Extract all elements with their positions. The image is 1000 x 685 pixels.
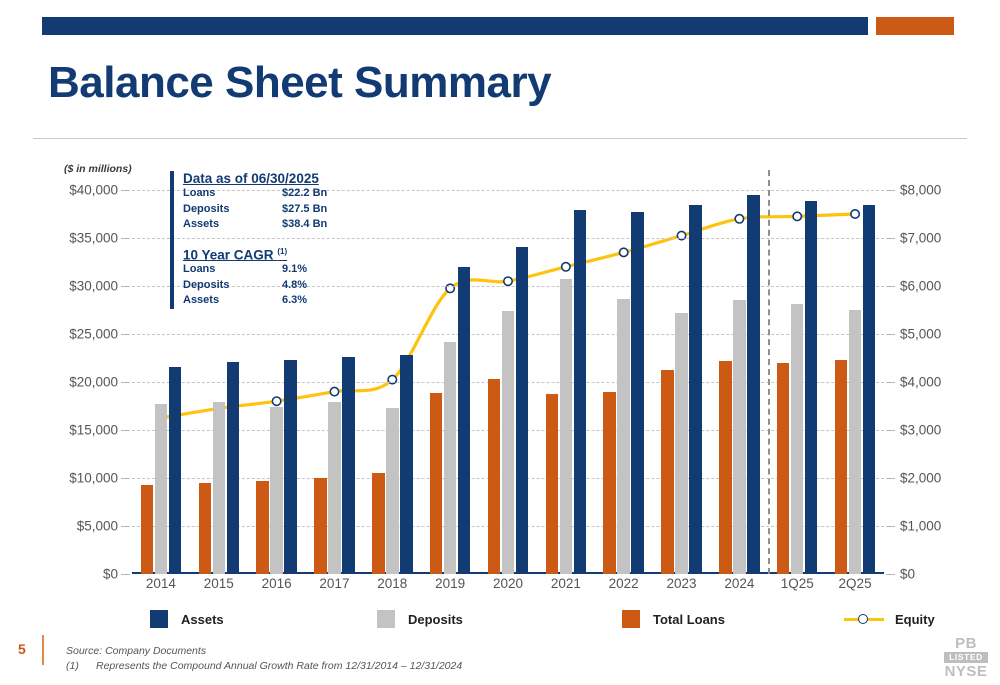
callout-data-value: $38.4 Bn (282, 217, 337, 233)
y-tick-mark (121, 430, 130, 431)
callout-data-value: $27.5 Bn (282, 202, 337, 218)
y-tick-mark-right (886, 190, 895, 191)
y-tick-mark (121, 526, 130, 527)
bar-deposits (328, 402, 341, 574)
bar-group (603, 190, 644, 574)
logo-exchange: NYSE (944, 664, 988, 679)
legend-swatch (377, 610, 395, 628)
callout-data-rows: Loans$22.2 BnDeposits$27.5 BnAssets$38.4… (183, 186, 343, 233)
y-axis-right-tick: $1,000 (900, 519, 941, 534)
legend-item-equity[interactable]: Equity (844, 610, 935, 628)
x-axis-label: 2023 (652, 576, 712, 591)
bar-group (430, 190, 471, 574)
y-tick-mark-right (886, 430, 895, 431)
page-number: 5 (18, 641, 26, 657)
bar-group (835, 190, 876, 574)
bar-group (719, 190, 760, 574)
callout-data-label: Deposits (183, 202, 229, 218)
callout-data-title: Data as of 06/30/2025 (183, 171, 343, 186)
y-axis-left-tick: $0 (103, 567, 118, 582)
bar-group (372, 190, 413, 574)
bar-deposits (617, 299, 630, 574)
bar-assets (863, 205, 876, 574)
y-axis-right-tick: $3,000 (900, 423, 941, 438)
bar-loans (372, 473, 385, 574)
x-axis-label: 2017 (304, 576, 364, 591)
bar-loans (777, 363, 790, 574)
bar-group (488, 190, 529, 574)
legend-label: Equity (895, 612, 935, 627)
y-axis-right-tick: $7,000 (900, 231, 941, 246)
legend-item-deposits[interactable]: Deposits (377, 610, 463, 628)
bar-assets (227, 362, 240, 574)
y-axis-right-tick: $2,000 (900, 471, 941, 486)
bar-group (777, 190, 818, 574)
y-tick-mark-right (886, 286, 895, 287)
x-axis-label: 2021 (536, 576, 596, 591)
footnotes: Source: Company Documents (1) Represents… (66, 644, 462, 674)
y-tick-mark (121, 286, 130, 287)
bar-deposits (791, 304, 804, 574)
chart-legend: AssetsDepositsTotal LoansEquity (132, 610, 892, 634)
x-axis-label: 2015 (189, 576, 249, 591)
y-axis-right-tick: $6,000 (900, 279, 941, 294)
bar-group (546, 190, 587, 574)
legend-label: Total Loans (653, 612, 725, 627)
callout-cagr-label: Deposits (183, 278, 229, 294)
bar-deposits (270, 407, 283, 574)
x-axis-label: 2022 (594, 576, 654, 591)
callout-cagr-row: Deposits4.8% (183, 278, 343, 294)
bar-loans (141, 485, 154, 574)
x-axis-label: 2020 (478, 576, 538, 591)
callout-cagr-title: 10 Year CAGR (1) (183, 247, 343, 263)
logo-listed: LISTED (944, 652, 988, 663)
y-axis-right-tick: $5,000 (900, 327, 941, 342)
callout-data-row: Loans$22.2 Bn (183, 186, 343, 202)
bar-deposits (733, 300, 746, 574)
bar-deposits (444, 342, 457, 574)
callout-cagr-label: Loans (183, 262, 215, 278)
data-callout-box: Data as of 06/30/2025 Loans$22.2 BnDepos… (170, 171, 343, 309)
nyse-listed-logo: PB LISTED NYSE (944, 636, 988, 679)
y-axis-left-tick: $10,000 (69, 471, 118, 486)
legend-label: Deposits (408, 612, 463, 627)
bar-loans (430, 393, 443, 574)
callout-cagr-rows: Loans9.1%Deposits4.8%Assets6.3% (183, 262, 343, 309)
callout-data-row: Assets$38.4 Bn (183, 217, 343, 233)
y-axis-left-tick: $5,000 (77, 519, 118, 534)
legend-swatch (622, 610, 640, 628)
bar-assets (747, 195, 760, 574)
bar-loans (719, 361, 732, 574)
bar-deposits (213, 402, 226, 574)
bar-deposits (155, 404, 168, 574)
balance-sheet-chart: ($ in millions) 201420152016201720182019… (0, 0, 1000, 685)
y-axis-right-tick: $4,000 (900, 375, 941, 390)
bar-deposits (560, 279, 573, 574)
bar-assets (574, 210, 587, 574)
x-axis-label: 2016 (247, 576, 307, 591)
bar-loans (256, 481, 269, 574)
y-tick-mark-right (886, 574, 895, 575)
x-axis-label: 2014 (131, 576, 191, 591)
callout-data-value: $22.2 Bn (282, 186, 337, 202)
y-axis-left-tick: $30,000 (69, 279, 118, 294)
x-axis-label: 2024 (709, 576, 769, 591)
y-axis-left-tick: $15,000 (69, 423, 118, 438)
callout-data-row: Deposits$27.5 Bn (183, 202, 343, 218)
y-tick-mark (121, 190, 130, 191)
bar-deposits (849, 310, 862, 574)
bar-assets (689, 205, 702, 574)
callout-data-label: Assets (183, 217, 219, 233)
footer-divider (42, 635, 44, 665)
legend-swatch (150, 610, 168, 628)
bar-deposits (675, 313, 688, 574)
bar-loans (199, 483, 212, 574)
x-axis-label: 2Q25 (825, 576, 885, 591)
footnote-marker: (1) (66, 659, 96, 674)
bar-assets (458, 267, 471, 574)
bar-loans (488, 379, 501, 574)
y-tick-mark-right (886, 238, 895, 239)
callout-cagr-label: Assets (183, 293, 219, 309)
bar-deposits (502, 311, 515, 574)
y-tick-mark (121, 334, 130, 335)
period-separator (768, 170, 770, 574)
x-axis-label: 2019 (420, 576, 480, 591)
footnote-text: Represents the Compound Annual Growth Ra… (96, 659, 462, 674)
y-axis-right-tick: $8,000 (900, 183, 941, 198)
bar-loans (314, 478, 327, 574)
bar-loans (835, 360, 848, 574)
x-axis-label: 2018 (362, 576, 422, 591)
bar-loans (546, 394, 559, 574)
y-tick-mark-right (886, 478, 895, 479)
legend-label: Assets (181, 612, 224, 627)
legend-item-total-loans[interactable]: Total Loans (622, 610, 725, 628)
legend-item-assets[interactable]: Assets (150, 610, 224, 628)
logo-ticker: PB (944, 636, 988, 651)
bar-loans (603, 392, 616, 574)
y-axis-right-tick: $0 (900, 567, 915, 582)
y-tick-mark-right (886, 382, 895, 383)
bar-assets (169, 367, 182, 574)
callout-cagr-value: 4.8% (282, 278, 337, 294)
x-axis-label: 1Q25 (767, 576, 827, 591)
bar-assets (631, 212, 644, 574)
y-tick-mark (121, 238, 130, 239)
y-axis-left-tick: $35,000 (69, 231, 118, 246)
axis-units-label: ($ in millions) (64, 163, 132, 175)
callout-cagr-value: 6.3% (282, 293, 337, 309)
y-tick-mark-right (886, 526, 895, 527)
callout-cagr-row: Assets6.3% (183, 293, 343, 309)
source-text: Source: Company Documents (66, 644, 206, 659)
y-tick-mark-right (886, 334, 895, 335)
y-tick-mark (121, 478, 130, 479)
legend-line-marker (844, 610, 884, 628)
callout-cagr-value: 9.1% (282, 262, 337, 278)
callout-data-label: Loans (183, 186, 215, 202)
bar-loans (661, 370, 674, 574)
y-tick-mark (121, 574, 130, 575)
bar-assets (342, 357, 355, 574)
bar-group (661, 190, 702, 574)
y-axis-left-tick: $20,000 (69, 375, 118, 390)
bar-assets (400, 355, 413, 574)
callout-cagr-row: Loans9.1% (183, 262, 343, 278)
bar-deposits (386, 408, 399, 574)
bar-assets (805, 201, 818, 574)
y-axis-left-tick: $40,000 (69, 183, 118, 198)
bar-assets (284, 360, 297, 574)
bar-assets (516, 247, 529, 574)
y-axis-left-tick: $25,000 (69, 327, 118, 342)
y-tick-mark (121, 382, 130, 383)
